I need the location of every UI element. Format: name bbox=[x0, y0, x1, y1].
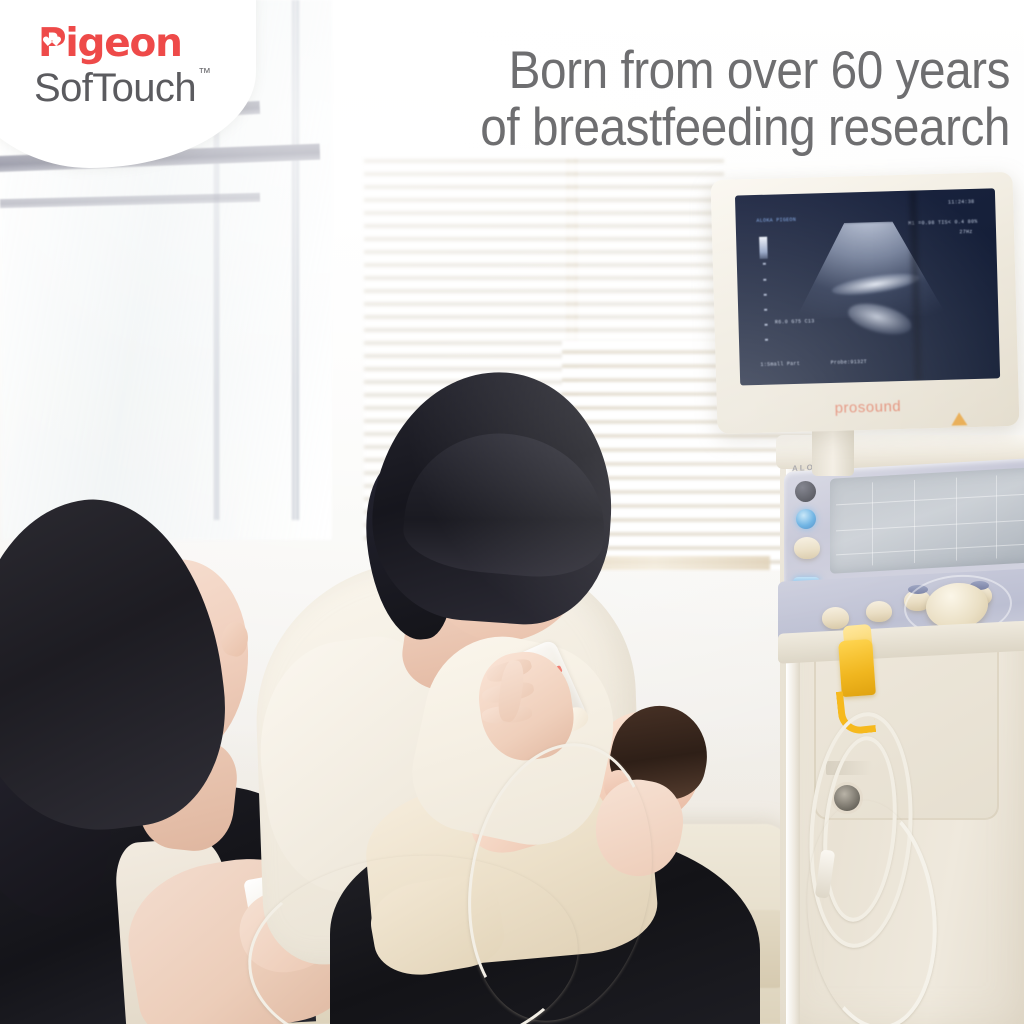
pigeon-wordmark: Pigeon bbox=[34, 24, 254, 63]
pigeon-wordmark-text: Pigeon bbox=[38, 21, 182, 66]
trademark-symbol: ™ bbox=[198, 66, 210, 79]
advertisement-banner: ALOKA bbox=[0, 0, 1024, 1024]
headline: Born from over 60 years of breastfeeding… bbox=[380, 42, 1010, 156]
softouch-wordmark: SofTouch™ bbox=[34, 68, 254, 108]
heart-icon bbox=[47, 35, 58, 45]
headline-line-2: of breastfeeding research bbox=[380, 99, 1010, 156]
headline-line-1: Born from over 60 years bbox=[380, 42, 1010, 99]
brand-logo: Pigeon SofTouch™ bbox=[34, 24, 254, 108]
softouch-wordmark-text: SofTouch bbox=[34, 66, 196, 110]
